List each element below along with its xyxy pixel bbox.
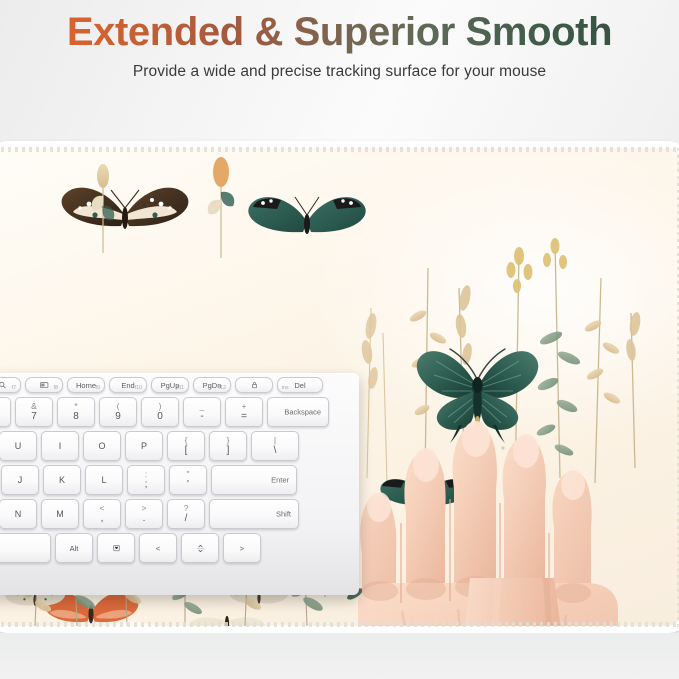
key-home[interactable]: Home f9: [67, 377, 105, 393]
key-bracket-right-bottom: ]: [227, 446, 230, 456]
key-9-bottom: 9: [115, 412, 121, 422]
key-l-label: L: [101, 475, 106, 485]
keyboard-row-home: G H J K L :;: [0, 465, 355, 495]
key-semicolon-top: :: [145, 470, 147, 479]
key-comma[interactable]: <,: [83, 499, 121, 529]
key-bracket-right[interactable]: }]: [209, 431, 247, 461]
key-del-label: Del: [294, 381, 305, 390]
key-0-top: ): [159, 402, 162, 411]
key-0[interactable]: )0: [141, 397, 179, 427]
key-pgdn[interactable]: PgDn f12: [193, 377, 231, 393]
key-slash[interactable]: ?/: [167, 499, 205, 529]
key-arrow-left-label: <: [156, 544, 160, 553]
key-o-label: O: [98, 441, 105, 451]
key-backslash-top: |: [274, 436, 276, 445]
key-home-sublabel: f9: [96, 385, 100, 391]
key-shift-right-label: Shift: [276, 510, 291, 519]
key-del[interactable]: Del ins: [277, 377, 323, 393]
lock-icon: [249, 381, 260, 389]
key-backslash-bottom: \: [274, 446, 277, 456]
page-subtitle: Provide a wide and precise tracking surf…: [0, 63, 679, 81]
keyboard-wrist-rest: [0, 613, 345, 626]
key-bracket-left[interactable]: {[: [167, 431, 205, 461]
key-pgup-sublabel: f11: [177, 385, 184, 391]
key-home-label: Home: [76, 381, 96, 390]
key-alt-right-label: Alt: [70, 544, 79, 553]
key-f7-sublabel: f7: [12, 385, 16, 391]
key-m-label: M: [56, 509, 64, 519]
keyboard-row-space: Alt <: [0, 533, 355, 563]
key-p-label: P: [141, 441, 147, 451]
key-pgdn-sublabel: f12: [219, 385, 226, 391]
key-end[interactable]: End f10: [109, 377, 147, 393]
key-arrow-right[interactable]: >: [223, 533, 261, 563]
page-title: Extended & Superior Smooth: [0, 10, 679, 55]
key-u[interactable]: U: [0, 431, 37, 461]
key-8-top: *: [74, 402, 77, 411]
key-n-label: N: [15, 509, 22, 519]
keyboard[interactable]: f6 f7 f8: [0, 373, 359, 595]
menu-key-icon: [111, 544, 122, 552]
key-equals-top: +: [242, 402, 247, 411]
key-7[interactable]: &7: [15, 397, 53, 427]
key-shift-right[interactable]: Shift: [209, 499, 299, 529]
key-slash-top: ?: [184, 504, 189, 513]
key-p[interactable]: P: [125, 431, 163, 461]
key-9-top: (: [117, 402, 120, 411]
product-image: Extended & Superior Smooth Provide a wid…: [0, 0, 679, 679]
forearm: [450, 578, 580, 626]
key-8[interactable]: *8: [57, 397, 95, 427]
key-backspace[interactable]: Backspace: [267, 397, 329, 427]
key-enter[interactable]: Enter: [211, 465, 297, 495]
key-period-top: >: [142, 504, 147, 513]
key-f8-sublabel: f8: [54, 385, 58, 391]
key-bracket-right-top: }: [227, 436, 230, 445]
key-period[interactable]: >.: [125, 499, 163, 529]
key-8-bottom: 8: [73, 412, 79, 422]
key-bracket-left-top: {: [185, 436, 188, 445]
desk-mat-surface: f6 f7 f8: [0, 148, 679, 626]
key-minus[interactable]: _-: [183, 397, 221, 427]
key-bracket-left-bottom: [: [185, 446, 188, 456]
key-n[interactable]: N: [0, 499, 37, 529]
key-semicolon[interactable]: :;: [127, 465, 165, 495]
key-space[interactable]: [0, 533, 51, 563]
key-7-bottom: 7: [31, 412, 37, 422]
keyboard-row-shift: V B N M <, >.: [0, 499, 355, 529]
key-f8[interactable]: f8: [25, 377, 63, 393]
key-comma-bottom: ,: [101, 514, 104, 524]
key-minus-bottom: -: [200, 412, 203, 422]
key-alt-right[interactable]: Alt: [55, 533, 93, 563]
key-lock[interactable]: [235, 377, 273, 393]
key-slash-bottom: /: [185, 514, 188, 524]
key-equals-bottom: =: [241, 412, 247, 422]
key-u-label: U: [15, 441, 22, 451]
key-f7[interactable]: f7: [0, 377, 21, 393]
key-pgup[interactable]: PgUp f11: [151, 377, 189, 393]
key-del-sublabel: ins: [282, 385, 289, 391]
key-0-bottom: 0: [157, 412, 163, 422]
key-end-sublabel: f10: [135, 385, 142, 391]
key-enter-label: Enter: [271, 476, 289, 485]
key-quote[interactable]: "': [169, 465, 207, 495]
keyboard-row-qwerty: T Y U I O P: [0, 431, 355, 461]
key-comma-top: <: [100, 504, 105, 513]
key-i-label: I: [59, 441, 62, 451]
key-arrow-left[interactable]: <: [139, 533, 177, 563]
key-backspace-label: Backspace: [284, 408, 321, 417]
key-6[interactable]: ^6: [0, 397, 11, 427]
key-equals[interactable]: +=: [225, 397, 263, 427]
key-k[interactable]: K: [43, 465, 81, 495]
key-i[interactable]: I: [41, 431, 79, 461]
key-quote-top: ": [186, 470, 189, 479]
key-end-label: End: [121, 381, 134, 390]
updown-arrows-icon: [195, 542, 206, 555]
key-quote-bottom: ': [187, 480, 189, 490]
footer-strip: [0, 633, 679, 679]
key-minus-top: _: [200, 402, 205, 411]
keyboard-row-number: %5 ^6 &7 *8 (9 )0: [0, 397, 355, 427]
key-l[interactable]: L: [85, 465, 123, 495]
key-j[interactable]: J: [1, 465, 39, 495]
key-9[interactable]: (9: [99, 397, 137, 427]
key-period-bottom: .: [143, 514, 146, 524]
search-icon: [0, 381, 8, 389]
key-backslash[interactable]: |\: [251, 431, 299, 461]
keyboard-row-function: f6 f7 f8: [0, 377, 355, 393]
display-icon: [39, 381, 50, 389]
key-m[interactable]: M: [41, 499, 79, 529]
key-semicolon-bottom: ;: [145, 480, 148, 490]
desk-mat: f6 f7 f8: [0, 141, 679, 633]
key-j-label: J: [18, 475, 23, 485]
key-k-label: K: [59, 475, 65, 485]
key-arrow-updown[interactable]: [181, 533, 219, 563]
key-o[interactable]: O: [83, 431, 121, 461]
key-arrow-right-label: >: [240, 544, 244, 553]
header-banner: Extended & Superior Smooth Provide a wid…: [0, 0, 679, 142]
key-7-top: &: [31, 402, 37, 411]
key-menu[interactable]: [97, 533, 135, 563]
